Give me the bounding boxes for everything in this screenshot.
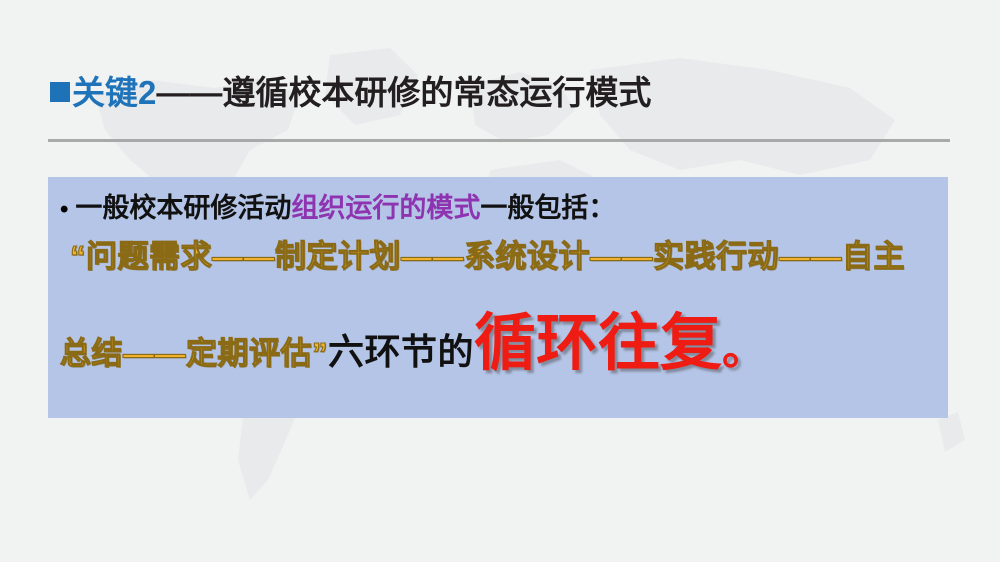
line1-highlight-purple: 组织运行的模式 [291, 193, 480, 223]
round-bullet-icon: • [60, 196, 68, 223]
slide-canvas: 关键2 ——遵循校本研修的常态运行模式 •一般校本研修活动组织运行的模式一般包括… [0, 0, 1000, 562]
line1-part1: 一般校本研修活动 [75, 193, 291, 223]
line3-gold-text: 总结——定期评估” [60, 336, 328, 371]
line3-emphasis-red: 循环往复 [474, 309, 722, 378]
page-title-rest: ——遵循校本研修的常态运行模式 [156, 76, 651, 109]
square-bullet-icon [50, 82, 70, 102]
line3-period: 。 [722, 325, 767, 374]
page-title: 关键2 ——遵循校本研修的常态运行模式 [50, 68, 651, 116]
page-title-highlight: 关键2 [72, 76, 156, 109]
line3-black-text: 六环节的 [328, 331, 474, 372]
content-line-1: •一般校本研修活动组织运行的模式一般包括： [60, 191, 615, 227]
line1-part3: 一般包括： [480, 193, 615, 223]
content-line-2: “问题需求——制定计划——系统设计——实践行动——自主 [70, 237, 905, 277]
title-divider [48, 139, 950, 142]
content-line-3: 总结——定期评估”六环节的循环往复。 [60, 313, 767, 385]
content-box: •一般校本研修活动组织运行的模式一般包括： “问题需求——制定计划——系统设计—… [48, 177, 948, 418]
line2-gold-text: “问题需求——制定计划——系统设计——实践行动——自主 [70, 239, 905, 274]
